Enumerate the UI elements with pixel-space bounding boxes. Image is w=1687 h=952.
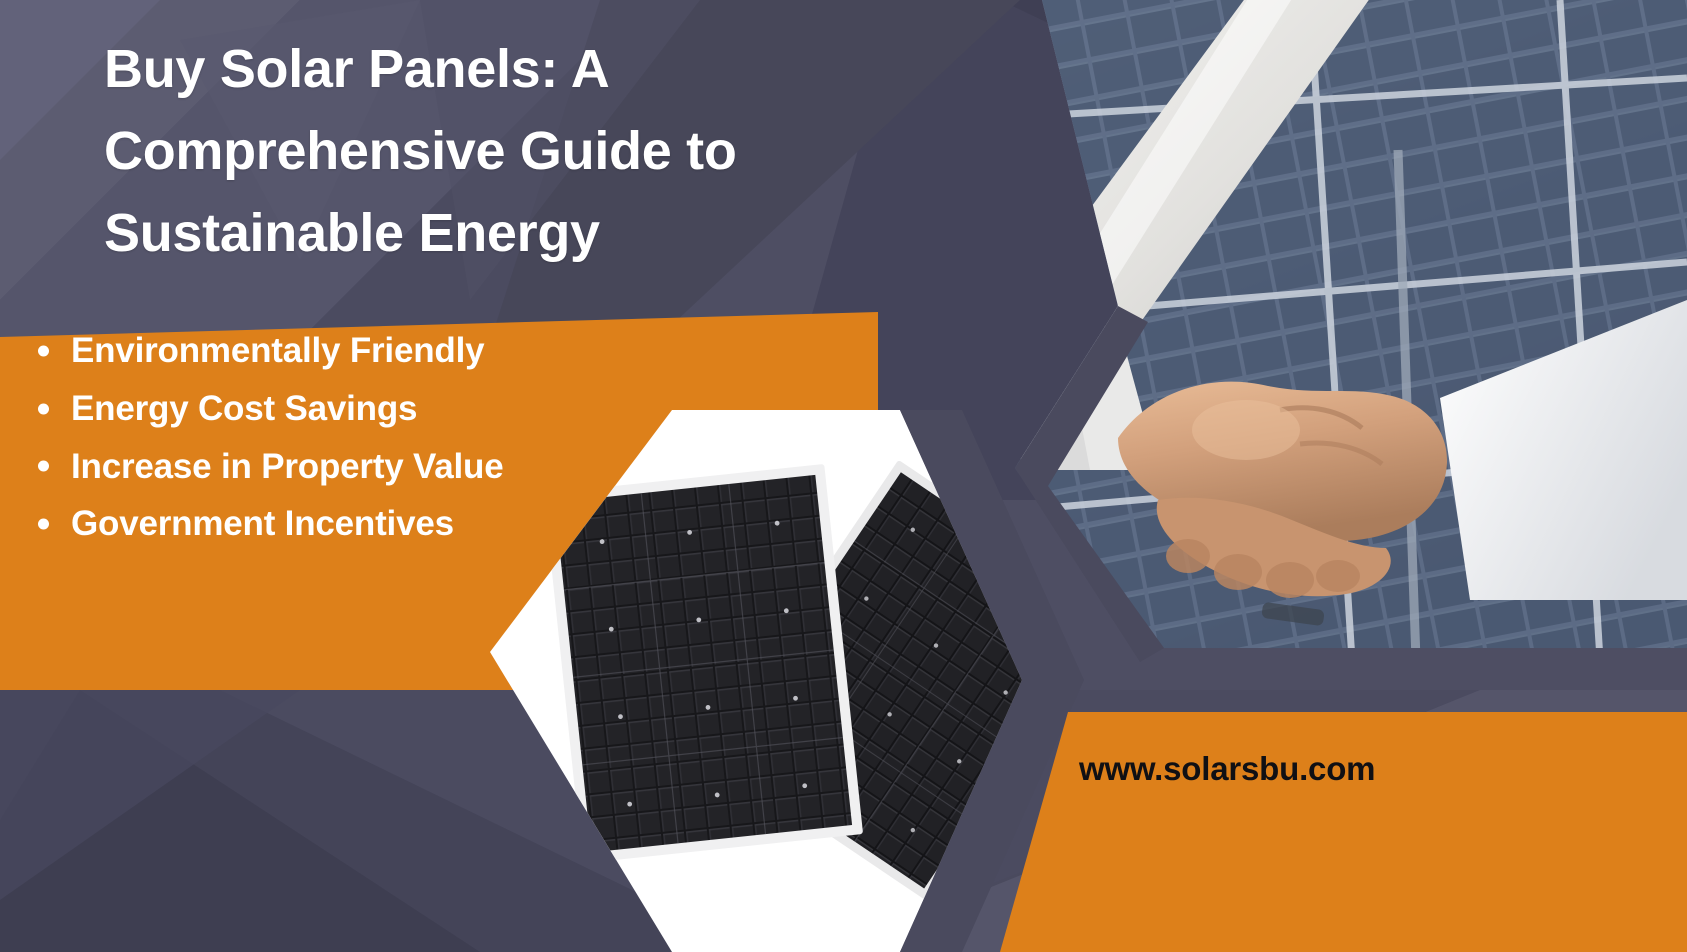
bullet-dot-icon	[38, 345, 49, 356]
list-item: Environmentally Friendly	[28, 322, 668, 380]
bullet-dot-icon	[38, 461, 49, 472]
benefit-label: Government Incentives	[71, 504, 454, 543]
benefits-list: Environmentally Friendly Energy Cost Sav…	[0, 322, 668, 553]
benefit-label: Environmentally Friendly	[71, 331, 484, 370]
bullet-dot-icon	[38, 519, 49, 530]
page-title: Buy Solar Panels: A Comprehensive Guide …	[104, 28, 894, 274]
list-item: Government Incentives	[28, 495, 668, 553]
benefit-label: Energy Cost Savings	[71, 389, 417, 428]
title-line-2: Comprehensive Guide to	[104, 110, 894, 192]
title-line-1: Buy Solar Panels: A	[104, 28, 894, 110]
list-item: Energy Cost Savings	[28, 380, 668, 438]
bullet-dot-icon	[38, 403, 49, 414]
website-url[interactable]: www.solarsbu.com	[1079, 750, 1375, 788]
list-item: Increase in Property Value	[28, 438, 668, 496]
benefit-label: Increase in Property Value	[71, 447, 504, 486]
promotional-banner: Buy Solar Panels: A Comprehensive Guide …	[0, 0, 1687, 952]
title-line-3: Sustainable Energy	[104, 192, 894, 274]
